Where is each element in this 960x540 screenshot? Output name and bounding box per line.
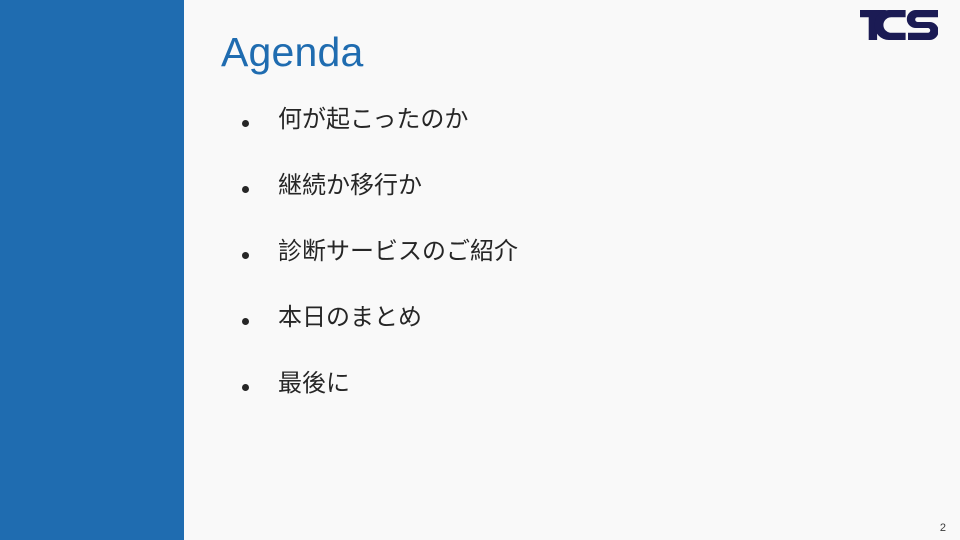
page-number: 2 — [940, 521, 946, 535]
tcs-logo — [860, 10, 938, 40]
bullet-icon — [242, 318, 249, 325]
slide-canvas: Agenda 何が起こったのか 継続か移行か 診断サービスのご紹介 本日のまとめ… — [0, 0, 960, 540]
agenda-list: 何が起こったのか 継続か移行か 診断サービスのご紹介 本日のまとめ 最後に — [238, 103, 858, 433]
list-item: 継続か移行か — [238, 169, 858, 235]
list-item-label: 継続か移行か — [278, 169, 422, 203]
list-item-label: 何が起こったのか — [278, 103, 468, 137]
left-accent-band — [0, 0, 184, 540]
list-item-label: 本日のまとめ — [278, 301, 422, 335]
list-item-label: 最後に — [278, 367, 350, 401]
list-item: 診断サービスのご紹介 — [238, 235, 858, 301]
list-item: 何が起こったのか — [238, 103, 858, 169]
list-item: 本日のまとめ — [238, 301, 858, 367]
bullet-icon — [242, 186, 249, 193]
bullet-icon — [242, 120, 249, 127]
page-title: Agenda — [221, 27, 364, 77]
list-item-label: 診断サービスのご紹介 — [278, 235, 518, 269]
bullet-icon — [242, 252, 249, 259]
list-item: 最後に — [238, 367, 858, 433]
bullet-icon — [242, 384, 249, 391]
